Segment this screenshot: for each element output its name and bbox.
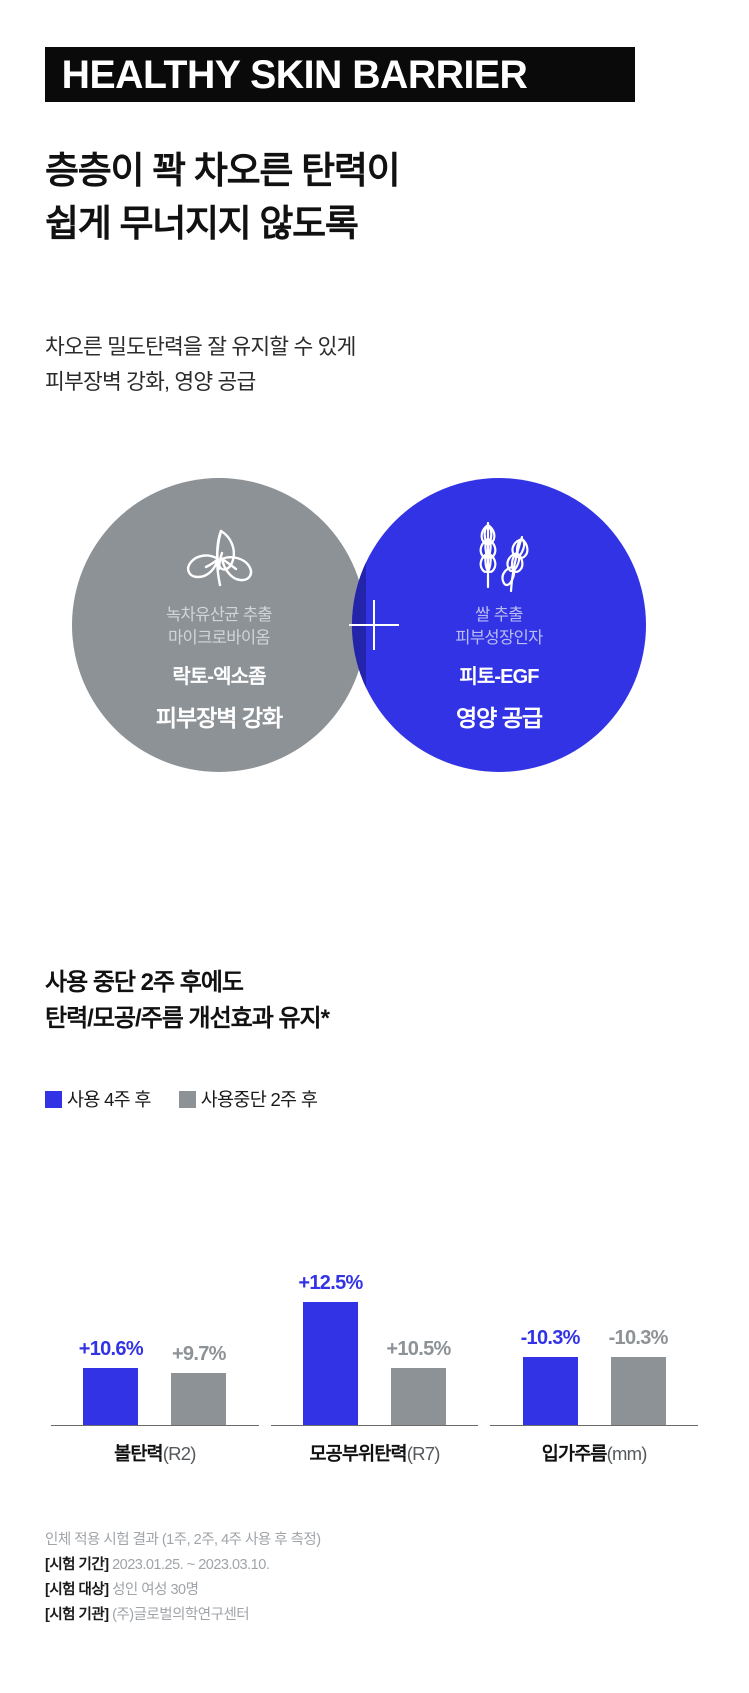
footnote-label-subjects: [시험 대상] bbox=[45, 1582, 109, 1598]
bar-value-2-0: -10.3% bbox=[521, 1327, 580, 1350]
headline-line-1: 층층이 꽉 차오른 탄력이 bbox=[45, 145, 685, 198]
bar-group-0-series-0: +10.6% bbox=[81, 1338, 141, 1425]
healthy-skin-barrier-banner: HEALTHY SKIN BARRIER bbox=[45, 47, 635, 102]
bar-rect-0-0 bbox=[83, 1368, 138, 1425]
chart-group-2: -10.3% -10.3% 입가주름(mm) bbox=[484, 1135, 704, 1480]
chart-category-label-2: 입가주름(mm) bbox=[484, 1440, 704, 1466]
bar-rect-2-1 bbox=[611, 1357, 666, 1425]
page-title: 층층이 꽉 차오른 탄력이 쉽게 무너지지 않도록 bbox=[45, 145, 685, 250]
bar-rect-0-1 bbox=[171, 1373, 226, 1425]
bar-value-0-0: +10.6% bbox=[79, 1338, 143, 1361]
bar-value-1-1: +10.5% bbox=[386, 1338, 450, 1361]
bar-group-1-series-1: +10.5% bbox=[389, 1338, 449, 1425]
bar-group-1-series-0: +12.5% bbox=[301, 1272, 361, 1425]
category-unit-1: (R7) bbox=[407, 1443, 440, 1464]
results-bar-chart: +10.6% +9.7% 볼탄력(R2) +12.5% bbox=[0, 1135, 749, 1480]
footnote-study-institution: [시험 기관] (주)글로벌의학연구센터 bbox=[45, 1603, 705, 1628]
legend-item-4weeks: 사용 4주 후 bbox=[45, 1086, 151, 1112]
chart-heading-line-1: 사용 중단 2주 후에도 bbox=[45, 965, 685, 1001]
chart-group-1: +12.5% +10.5% 모공부위탄력(R7) bbox=[265, 1135, 485, 1480]
plus-icon bbox=[374, 625, 375, 626]
chart-axis-0 bbox=[51, 1425, 259, 1427]
footnote-study-period: [시험 기간] 2023.01.25. ~ 2023.03.10. bbox=[45, 1553, 705, 1578]
headline-line-2: 쉽게 무너지지 않도록 bbox=[45, 198, 685, 251]
bar-value-1-0: +12.5% bbox=[298, 1272, 362, 1295]
chart-category-label-0: 볼탄력(R2) bbox=[45, 1440, 265, 1466]
subheading-line-2: 피부장벽 강화, 영양 공급 bbox=[45, 365, 685, 400]
banner-title: HEALTHY SKIN BARRIER bbox=[45, 55, 527, 95]
bar-rect-1-0 bbox=[303, 1302, 358, 1425]
footnote-value-subjects: 성인 여성 30명 bbox=[112, 1582, 198, 1598]
legend-swatch-gray bbox=[179, 1091, 196, 1108]
category-name-1: 모공부위탄력 bbox=[309, 1443, 406, 1464]
chart-group-0: +10.6% +9.7% 볼탄력(R2) bbox=[45, 1135, 265, 1480]
ingredient-venn-diagram: 녹차유산균 추출 마이크로바이옴 락토-엑소좀 피부장벽 강화 bbox=[0, 470, 749, 780]
bar-value-0-1: +9.7% bbox=[172, 1343, 226, 1366]
chart-heading-line-2: 탄력/모공/주름 개선효과 유지* bbox=[45, 1001, 685, 1037]
footnote-label-period: [시험 기간] bbox=[45, 1557, 109, 1573]
footnote-value-institution: (주)글로벌의학연구센터 bbox=[112, 1607, 249, 1623]
footnote-study-subjects: [시험 대상] 성인 여성 30명 bbox=[45, 1578, 705, 1603]
bar-group-0-series-1: +9.7% bbox=[169, 1343, 229, 1425]
footnote-line-1: 인체 적용 시험 결과 (1주, 2주, 4주 사용 후 측정) bbox=[45, 1528, 705, 1553]
legend-item-2weeks-after-stop: 사용중단 2주 후 bbox=[179, 1086, 317, 1112]
legend-label-2weeks-after-stop: 사용중단 2주 후 bbox=[201, 1086, 317, 1112]
bar-group-2-series-0: -10.3% bbox=[520, 1327, 580, 1425]
venn-circle-left bbox=[72, 478, 366, 772]
chart-axis-1 bbox=[271, 1425, 479, 1427]
chart-heading: 사용 중단 2주 후에도 탄력/모공/주름 개선효과 유지* bbox=[45, 965, 685, 1036]
footnote-label-institution: [시험 기관] bbox=[45, 1607, 109, 1623]
category-name-2: 입가주름 bbox=[542, 1443, 607, 1464]
chart-legend: 사용 4주 후 사용중단 2주 후 bbox=[45, 1086, 317, 1112]
footnote-value-period: 2023.01.25. ~ 2023.03.10. bbox=[112, 1557, 269, 1573]
category-unit-0: (R2) bbox=[163, 1443, 196, 1464]
subheading-line-1: 차오른 밀도탄력을 잘 유지할 수 있게 bbox=[45, 330, 685, 365]
bar-rect-2-0 bbox=[523, 1357, 578, 1425]
bar-rect-1-1 bbox=[391, 1368, 446, 1425]
legend-label-4weeks: 사용 4주 후 bbox=[67, 1086, 151, 1112]
bar-value-2-1: -10.3% bbox=[609, 1327, 668, 1350]
legend-swatch-blue bbox=[45, 1091, 62, 1108]
category-unit-2: (mm) bbox=[607, 1443, 647, 1464]
category-name-0: 볼탄력 bbox=[114, 1443, 163, 1464]
bar-group-2-series-1: -10.3% bbox=[608, 1327, 668, 1425]
subheading: 차오른 밀도탄력을 잘 유지할 수 있게 피부장벽 강화, 영양 공급 bbox=[45, 330, 685, 400]
study-footnotes: 인체 적용 시험 결과 (1주, 2주, 4주 사용 후 측정) [시험 기간]… bbox=[45, 1528, 705, 1628]
chart-axis-2 bbox=[490, 1425, 698, 1427]
chart-category-label-1: 모공부위탄력(R7) bbox=[265, 1440, 485, 1466]
